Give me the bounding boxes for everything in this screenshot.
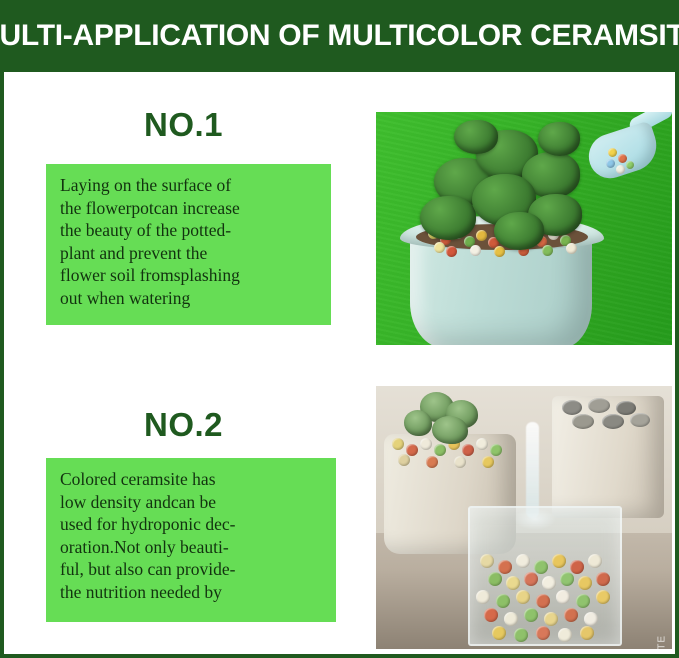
bead [482, 456, 494, 468]
section-1-text-column: NO.1 Laying on the surface of the flower… [4, 72, 339, 362]
decorative-stone [630, 413, 650, 427]
bead [596, 572, 610, 586]
section-1-photo [376, 112, 672, 345]
bead [504, 612, 518, 626]
plant-leaf [420, 196, 476, 240]
bead [476, 438, 488, 450]
bead [596, 590, 610, 604]
decorative-stone [602, 414, 624, 429]
section-1-body-text: Laying on the surface of the flowerpotca… [60, 174, 319, 309]
bead [616, 165, 625, 174]
photo-watermark: GALETTE [657, 635, 668, 649]
bead [494, 246, 505, 257]
bead [534, 560, 548, 574]
water-stream [526, 422, 539, 518]
bead [398, 454, 410, 466]
bead [484, 608, 498, 622]
bead [566, 243, 577, 254]
bead [618, 154, 627, 163]
poster-page: MULTI-APPLICATION OF MULTICOLOR CERAMSIT… [0, 0, 679, 658]
bead [536, 626, 550, 640]
bead [470, 245, 481, 256]
bead [606, 159, 615, 168]
bead [492, 626, 506, 640]
decorative-stone [572, 414, 594, 429]
decorative-stone [562, 400, 582, 415]
bead [496, 594, 510, 608]
bead [578, 576, 592, 590]
bead [392, 438, 404, 450]
bead [556, 590, 570, 604]
bead [524, 572, 538, 586]
section-2-text-column: NO.2 Colored ceramsite has low density a… [4, 362, 339, 654]
plant-leaf [538, 122, 580, 156]
bead [544, 612, 558, 626]
plant-leaf [494, 212, 544, 250]
section-1-number-label: NO.1 [144, 106, 223, 144]
bead [626, 161, 634, 169]
bead [506, 576, 520, 590]
section-2-callout-box: Colored ceramsite has low density andcan… [46, 458, 336, 622]
section-no-1: NO.1 Laying on the surface of the flower… [4, 72, 675, 362]
bead [462, 444, 474, 456]
bead [434, 444, 446, 456]
bead [564, 608, 578, 622]
section-no-2: NO.2 Colored ceramsite has low density a… [4, 362, 675, 654]
bead [406, 444, 418, 456]
bead [488, 572, 502, 586]
bead [576, 594, 590, 608]
section-2-body-text: Colored ceramsite has low density andcan… [60, 468, 324, 603]
bead [454, 456, 466, 468]
section-2-number-label: NO.2 [144, 406, 223, 444]
bead [560, 572, 574, 586]
bead [498, 560, 512, 574]
bead [490, 444, 502, 456]
bead [426, 456, 438, 468]
bead [558, 628, 572, 642]
bead [570, 560, 584, 574]
decorative-stone [588, 398, 610, 413]
bead [434, 242, 445, 253]
bead [584, 612, 598, 626]
page-title: MULTI-APPLICATION OF MULTICOLOR CERAMSIT… [0, 19, 679, 53]
glass-vase [468, 506, 622, 646]
bead [536, 594, 550, 608]
section-2-photo: GALETTE [376, 386, 672, 649]
bead [514, 628, 528, 642]
bead [446, 246, 457, 257]
photo-2-content: GALETTE [376, 386, 672, 649]
header-banner: MULTI-APPLICATION OF MULTICOLOR CERAMSIT… [0, 0, 679, 72]
bead [516, 590, 530, 604]
bead [580, 626, 594, 640]
succulent-leaf [432, 416, 468, 444]
bead [542, 576, 556, 590]
bead [524, 608, 538, 622]
bead [588, 554, 602, 568]
section-1-callout-box: Laying on the surface of the flowerpotca… [46, 164, 331, 325]
photo-1-content [376, 112, 672, 345]
succulent-leaf [404, 410, 432, 436]
bead [476, 230, 487, 241]
bead [420, 438, 432, 450]
bead [480, 554, 494, 568]
bead [476, 590, 490, 604]
bead [516, 554, 530, 568]
bead [552, 554, 566, 568]
bead [542, 245, 553, 256]
decorative-stone [616, 401, 636, 415]
plant-leaf [454, 120, 498, 154]
bead [608, 148, 617, 157]
